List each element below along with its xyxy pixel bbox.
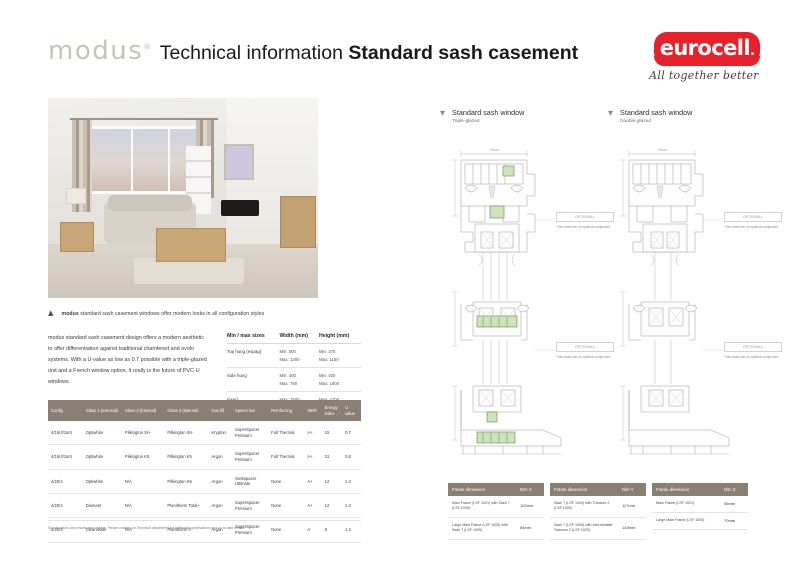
cell-glass-3: Pilkington St+	[164, 421, 208, 445]
table-header-row: Frame dimension Dim X	[448, 483, 544, 496]
cell-frame-dimension: Large Main Frame (LSF 1000) with Sash 7 …	[448, 517, 516, 539]
col-minmax-label: Min / max sizes	[227, 333, 279, 344]
col-frame-dimension: Frame dimension	[550, 483, 618, 496]
col-gas-fill: Gas fill	[208, 400, 232, 421]
cell-dim-value: 102mm	[516, 496, 544, 517]
optional-note: Third seals are an optional component	[724, 225, 782, 230]
optional-callout: OPTIONAL Third seals are an optional com…	[724, 342, 782, 359]
cell-reinforcing: Full Thermal	[268, 445, 304, 469]
table-row: Large Main Frame (LSF 1000)70mm	[652, 513, 748, 530]
col-wer: WER	[304, 400, 321, 421]
cell-dim-value: 84mm	[516, 517, 544, 539]
col-dim-z: Dim Z	[720, 483, 748, 496]
cell-gas-fill: Krypton	[208, 421, 232, 445]
cell-glass-2: N/A	[122, 494, 164, 518]
frame-dimension-table-y: Frame dimension Dim Y Sash 7 (LSF 1009) …	[550, 483, 646, 540]
drawing-subtitle: Double-glazed	[620, 119, 692, 124]
cell-u-value: 1.3	[342, 494, 361, 518]
chevron-down-icon: ▾	[608, 109, 613, 119]
cell-glass-3: Pilkington K5	[164, 445, 208, 469]
optional-badge: OPTIONAL	[556, 342, 614, 352]
col-spacer-bar: Spacer bar	[232, 400, 268, 421]
minmax-height: Min: 375 Max: 1150	[319, 344, 361, 368]
photo-fireplace	[221, 200, 259, 216]
cell-glass-1: Optiwhite	[83, 421, 122, 445]
cell-gas-fill: Argon	[208, 494, 232, 518]
minmax-width: Min: 400 Max: 750	[279, 368, 319, 392]
drawing-subtitle: Triple-glazed	[452, 119, 524, 124]
frame-dimension-table-x: Frame dimension Dim X Main Frame (LSF 10…	[448, 483, 544, 540]
cell-wer: A+	[304, 494, 321, 518]
cell-u-value: 1.3	[342, 469, 361, 493]
svg-text:70mm: 70mm	[489, 148, 499, 152]
cell-reinforcing: None	[268, 494, 304, 518]
col-dim-x: Dim X	[516, 483, 544, 496]
photo-caption-text: modus standard sash casement windows off…	[62, 311, 265, 317]
cross-section-triple-glazed: 70mm	[443, 140, 578, 470]
cell-config: 4/16/4/16/4	[48, 445, 83, 469]
col-frame-dimension: Frame dimension	[448, 483, 516, 496]
cell-config: 4/20/4	[48, 469, 83, 493]
cell-energy-index: 15	[322, 421, 342, 445]
svg-text:70mm: 70mm	[657, 148, 667, 152]
datasheet-page: modus®Technical information Standard sas…	[0, 0, 800, 566]
photo-window-mullion	[131, 129, 133, 191]
col-dim-y: Dim Y	[618, 483, 646, 496]
cell-spacer-bar: SuperSpacer Premium	[232, 421, 268, 445]
page-header: modus®Technical information Standard sas…	[48, 36, 760, 86]
optional-badge: OPTIONAL	[556, 212, 614, 222]
chevron-down-icon: ▾	[440, 109, 445, 119]
cell-spacer-bar: Swisspacer Ultimate	[232, 469, 268, 493]
cell-config: 4/16/4/16/4	[48, 421, 83, 445]
cell-frame-dimension: Main Frame (LSF 1021)	[652, 496, 720, 513]
cell-gas-fill: Argon	[208, 445, 232, 469]
col-glass-3: Glass 3 (internal)	[164, 400, 208, 421]
minmax-width: Min: 500 Max: 1300	[279, 344, 319, 368]
table-row: 4/20/4OptiwhiteN/APilkington K5ArgonSwis…	[48, 469, 361, 493]
cell-wer: A+	[304, 469, 321, 493]
optional-note: Third seals are an optional component	[556, 225, 614, 230]
page-title: Technical information Standard sash case…	[160, 42, 578, 65]
photo-window-mullion	[168, 129, 170, 191]
table-header-row: Min / max sizes Width (mm) Height (mm)	[227, 333, 361, 344]
dim-y-body: Sash 7 (LSF 1009) with Transom 2 (LSF 10…	[550, 496, 646, 539]
table-row: 4/16/4/16/4OptiwhitePilkington K5Pilking…	[48, 445, 361, 469]
cell-glass-3: Pilkington K5	[164, 469, 208, 493]
modus-wordmark: modus®	[48, 36, 153, 66]
cell-spacer-bar: SuperSpacer Premium	[232, 494, 268, 518]
table-header-row: Frame dimension Dim Y	[550, 483, 646, 496]
table-header-row: Frame dimension Dim Z	[652, 483, 748, 496]
photo-sideboard	[280, 196, 316, 248]
col-energy-index: Energy index	[322, 400, 342, 421]
cell-glass-2: Pilkington St+	[122, 421, 164, 445]
optional-note: Third seals are an optional component	[724, 355, 782, 360]
cell-dim-value: 143mm	[618, 517, 646, 539]
cell-glass-1: Optiwhite	[83, 445, 122, 469]
col-glass-1: Glass 1 (external)	[83, 400, 122, 421]
minmax-height: Min: 400 Max: 1600	[319, 368, 361, 392]
lead-paragraph: modus standard sash casement design offe…	[48, 333, 208, 388]
table-row: 4/20/4DiamantN/APlanitherm Total+ArgonSu…	[48, 494, 361, 518]
cell-frame-dimension: Sash 7 (LSF 1009) with Intermediate Tran…	[550, 517, 618, 539]
col-u-value: U value	[342, 400, 361, 421]
cell-glass-2: Pilkington K5	[122, 445, 164, 469]
dim-x-body: Main Frame (LSF 1021) with Sash 7 (LSF 1…	[448, 496, 544, 539]
cell-u-value: 0.8	[342, 445, 361, 469]
table-row: Large Main Frame (LSF 1000) with Sash 7 …	[448, 517, 544, 539]
cell-frame-dimension: Main Frame (LSF 1021) with Sash 7 (LSF 1…	[448, 496, 516, 517]
cell-frame-dimension: Large Main Frame (LSF 1000)	[652, 513, 720, 530]
table-row: Side hung Min: 400 Max: 750 Min: 400 Max…	[227, 368, 361, 392]
cell-glass-1: Diamant	[83, 494, 122, 518]
photo-lamp	[66, 188, 86, 204]
drawing-heading-double: ▾ Standard sash window Double-glazed	[608, 108, 768, 124]
table-row: Sash 7 (LSF 1009) with Intermediate Tran…	[550, 517, 646, 539]
photo-wall-art	[224, 144, 254, 180]
cell-energy-index: 31	[322, 445, 342, 469]
cell-energy-index: 12	[322, 494, 342, 518]
optional-callout: OPTIONAL Third seals are an optional com…	[556, 212, 614, 229]
cell-dim-value: 56mm	[720, 496, 748, 513]
registered-mark: ®	[143, 42, 153, 51]
optional-badge: OPTIONAL	[724, 212, 782, 222]
optional-note: Third seals are an optional component	[556, 355, 614, 360]
drawing-title: Standard sash window	[452, 108, 524, 117]
col-frame-dimension: Frame dimension	[652, 483, 720, 496]
eurocell-logo: eurocell. All together better	[648, 32, 760, 82]
spec-disclaimer: Specifications and results may change. P…	[48, 520, 361, 531]
cell-wer: A+	[304, 445, 321, 469]
frame-dimension-table-z: Frame dimension Dim Z Main Frame (LSF 10…	[652, 483, 748, 530]
optional-callout: OPTIONAL Third seals are an optional com…	[556, 342, 614, 359]
table-row: Main Frame (LSF 1021) with Sash 7 (LSF 1…	[448, 496, 544, 517]
col-config: Config	[48, 400, 83, 421]
cell-gas-fill: Argon	[208, 469, 232, 493]
minmax-label: Side hung	[227, 368, 279, 392]
photo-nest-tables	[60, 222, 94, 252]
cell-reinforcing: None	[268, 469, 304, 493]
cell-dim-value: 70mm	[720, 513, 748, 530]
photo-caption: ▴ modus standard sash casement windows o…	[48, 308, 348, 319]
optional-callout: OPTIONAL Third seals are an optional com…	[724, 212, 782, 229]
cell-dim-value: 117mm	[618, 496, 646, 517]
cross-section-double-glazed: 70mm	[611, 140, 746, 470]
table-row: Sash 7 (LSF 1009) with Transom 2 (LSF 10…	[550, 496, 646, 517]
table-header-row: Config Glass 1 (external) Glass 2 (inter…	[48, 400, 361, 421]
table-row: 4/16/4/16/4OptiwhitePilkington St+Pilkin…	[48, 421, 361, 445]
cell-wer: A+	[304, 421, 321, 445]
col-reinforcing: Reinforcing	[268, 400, 304, 421]
table-row: Main Frame (LSF 1021)56mm	[652, 496, 748, 513]
cell-glass-2: N/A	[122, 469, 164, 493]
eurocell-logo-text: eurocell.	[660, 36, 755, 60]
drawing-heading-triple: ▾ Standard sash window Triple-glazed	[440, 108, 600, 124]
col-glass-2: Glass 2 (internal)	[122, 400, 164, 421]
col-height: Height (mm)	[319, 333, 361, 344]
col-width: Width (mm)	[279, 333, 319, 344]
minmax-sizes-table: Min / max sizes Width (mm) Height (mm) T…	[227, 333, 361, 409]
hero-photo	[48, 98, 318, 298]
cell-energy-index: 12	[322, 469, 342, 493]
chevron-up-icon: ▴	[48, 308, 54, 319]
dim-z-body: Main Frame (LSF 1021)56mmLarge Main Fram…	[652, 496, 748, 530]
cell-frame-dimension: Sash 7 (LSF 1009) with Transom 2 (LSF 10…	[550, 496, 618, 517]
cell-spacer-bar: SuperSpacer Premium	[232, 445, 268, 469]
optional-badge: OPTIONAL	[724, 342, 782, 352]
drawing-title: Standard sash window	[620, 108, 692, 117]
cell-u-value: 0.7	[342, 421, 361, 445]
eurocell-tagline: All together better	[648, 69, 760, 82]
photo-coffee-table	[156, 228, 226, 262]
table-row: Top hung (espag) Min: 500 Max: 1300 Min:…	[227, 344, 361, 368]
cell-glass-1: Optiwhite	[83, 469, 122, 493]
cell-reinforcing: Full Thermal	[268, 421, 304, 445]
cell-glass-3: Planitherm Total+	[164, 494, 208, 518]
minmax-label: Top hung (espag)	[227, 344, 279, 368]
cell-config: 4/20/4	[48, 494, 83, 518]
eurocell-logo-badge: eurocell.	[654, 32, 760, 65]
